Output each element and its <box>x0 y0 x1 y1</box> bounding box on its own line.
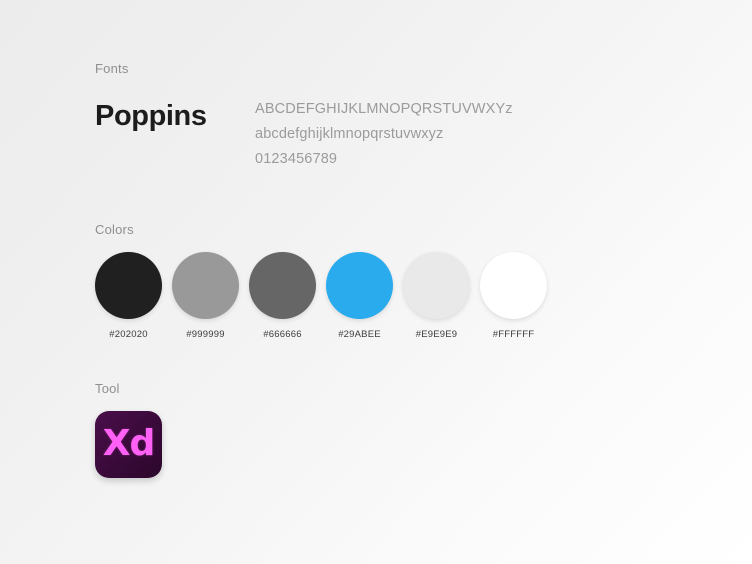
color-swatch-cell[interactable]: #E9E9E9 <box>403 252 470 340</box>
color-swatch-mid-gray[interactable] <box>172 252 239 319</box>
style-guide: Fonts Poppins ABCDEFGHIJKLMNOPQRSTUVWXYz… <box>95 62 695 478</box>
color-swatch-hex-label: #29ABEE <box>338 330 381 340</box>
specimen-lowercase: abcdefghijklmnopqrstuvwxyz <box>255 122 513 147</box>
color-swatch-hex-label: #E9E9E9 <box>416 330 458 340</box>
color-swatch-light-gray[interactable] <box>403 252 470 319</box>
adobe-xd-icon-label: Xd <box>103 426 155 462</box>
fonts-section-label: Fonts <box>95 62 695 75</box>
color-swatch-hex-label: #202020 <box>109 330 147 340</box>
font-family-name: Poppins <box>95 97 255 131</box>
color-swatch-cell[interactable]: #666666 <box>249 252 316 340</box>
tool-section: Tool Xd <box>95 382 695 478</box>
color-swatch-near-black[interactable] <box>95 252 162 319</box>
color-swatch-accent-blue[interactable] <box>326 252 393 319</box>
tool-section-label: Tool <box>95 382 695 395</box>
adobe-xd-icon[interactable]: Xd <box>95 411 162 478</box>
color-swatch-hex-label: #666666 <box>263 330 301 340</box>
specimen-uppercase: ABCDEFGHIJKLMNOPQRSTUVWXYz <box>255 97 513 122</box>
colors-section-label: Colors <box>95 223 695 236</box>
colors-section: Colors #202020#999999#666666#29ABEE#E9E9… <box>95 223 695 340</box>
color-swatch-hex-label: #999999 <box>186 330 224 340</box>
fonts-body: Poppins ABCDEFGHIJKLMNOPQRSTUVWXYz abcde… <box>95 97 695 172</box>
tool-row: Xd <box>95 411 695 478</box>
color-swatch-cell[interactable]: #999999 <box>172 252 239 340</box>
color-swatch-dark-gray[interactable] <box>249 252 316 319</box>
color-swatch-cell[interactable]: #29ABEE <box>326 252 393 340</box>
color-swatch-cell[interactable]: #FFFFFF <box>480 252 547 340</box>
color-swatch-row: #202020#999999#666666#29ABEE#E9E9E9#FFFF… <box>95 252 695 340</box>
color-swatch-white[interactable] <box>480 252 547 319</box>
color-swatch-hex-label: #FFFFFF <box>493 330 535 340</box>
font-specimen: ABCDEFGHIJKLMNOPQRSTUVWXYz abcdefghijklm… <box>255 97 513 172</box>
specimen-numerals: 0123456789 <box>255 147 513 172</box>
fonts-section: Fonts Poppins ABCDEFGHIJKLMNOPQRSTUVWXYz… <box>95 62 695 172</box>
color-swatch-cell[interactable]: #202020 <box>95 252 162 340</box>
